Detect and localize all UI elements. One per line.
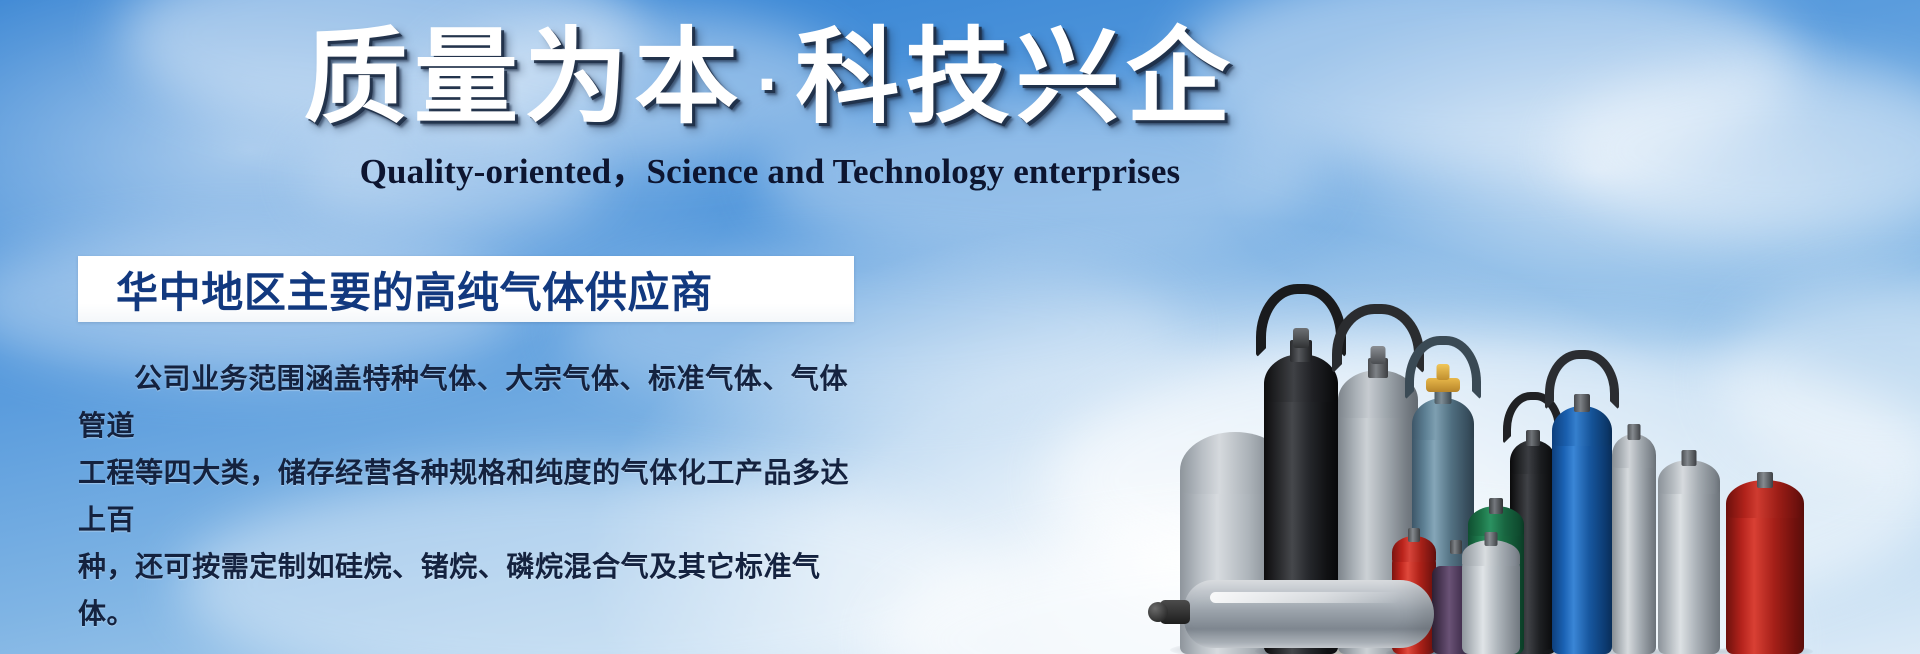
cylinder-aluminium-tall xyxy=(1658,439,1720,654)
cylinder-silver-slim xyxy=(1612,404,1656,654)
tank-lying-horizontal xyxy=(1184,580,1434,648)
cylinder-blue-tall xyxy=(1552,369,1612,654)
banner-paragraph: 公司业务范围涵盖特种气体、大宗气体、标准气体、气体管道 工程等四大类，储存经营各… xyxy=(78,355,868,637)
tagline-text: 华中地区主要的高纯气体供应商 xyxy=(116,259,713,320)
headline-right: 科技兴企 xyxy=(795,16,1236,138)
paragraph-line-3: 种，还可按需定制如硅烷、锗烷、磷烷混合气及其它标准气体。 xyxy=(78,543,868,637)
promo-banner: 质量为本·科技兴企 Quality-oriented，Science and T… xyxy=(0,0,1920,654)
cylinder-red-large xyxy=(1726,474,1804,654)
tagline-box: 华中地区主要的高纯气体供应商 xyxy=(78,256,854,322)
headline-separator: · xyxy=(745,53,796,117)
banner-subtitle: Quality-oriented，Science and Technology … xyxy=(0,143,1540,194)
banner-headline: 质量为本·科技兴企 xyxy=(0,22,1540,133)
cloud-decoration xyxy=(1560,60,1920,240)
brass-valve xyxy=(1426,378,1460,392)
paragraph-line-2: 工程等四大类，储存经营各种规格和纯度的气体化工产品多达上百 xyxy=(78,449,868,543)
tank-knob xyxy=(1148,602,1168,622)
gas-cylinder-group-photo xyxy=(1180,234,1920,654)
paragraph-line-1: 公司业务范围涵盖特种气体、大宗气体、标准气体、气体管道 xyxy=(78,355,868,449)
tank-highlight xyxy=(1210,592,1400,603)
cylinder-aluminium xyxy=(1462,534,1520,654)
headline-left: 质量为本 xyxy=(304,16,745,138)
